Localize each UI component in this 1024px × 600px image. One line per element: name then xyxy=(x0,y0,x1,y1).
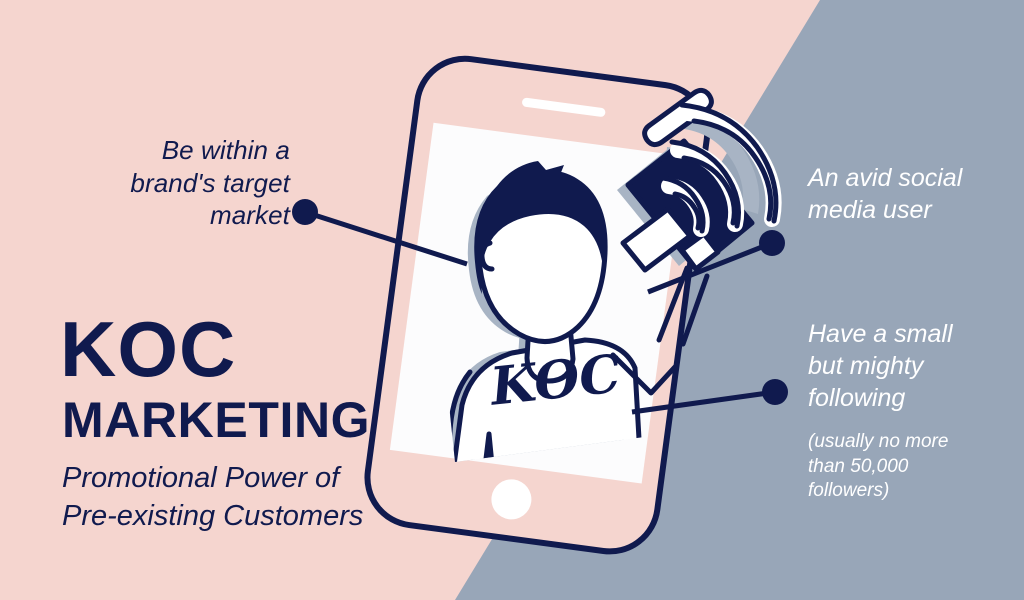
connector-dot-target-market xyxy=(292,199,318,225)
callout-following-note: (usually no more than 50,000 followers) xyxy=(808,430,1018,504)
connector-dot-following xyxy=(762,379,788,405)
infographic-canvas: KOC xyxy=(0,0,1024,600)
callout-small-mighty-following: Have a small but mighty following xyxy=(808,318,1013,414)
callout-target-market: Be within a brand's target market xyxy=(60,134,290,232)
callout-social-media-user: An avid social media user xyxy=(808,162,1018,226)
connector-dot-social-media xyxy=(759,230,785,256)
page-title-koc: KOC xyxy=(60,312,236,386)
page-subtitle: Promotional Power of Pre-existing Custom… xyxy=(62,460,422,535)
page-title-marketing: MARKETING xyxy=(62,395,370,445)
